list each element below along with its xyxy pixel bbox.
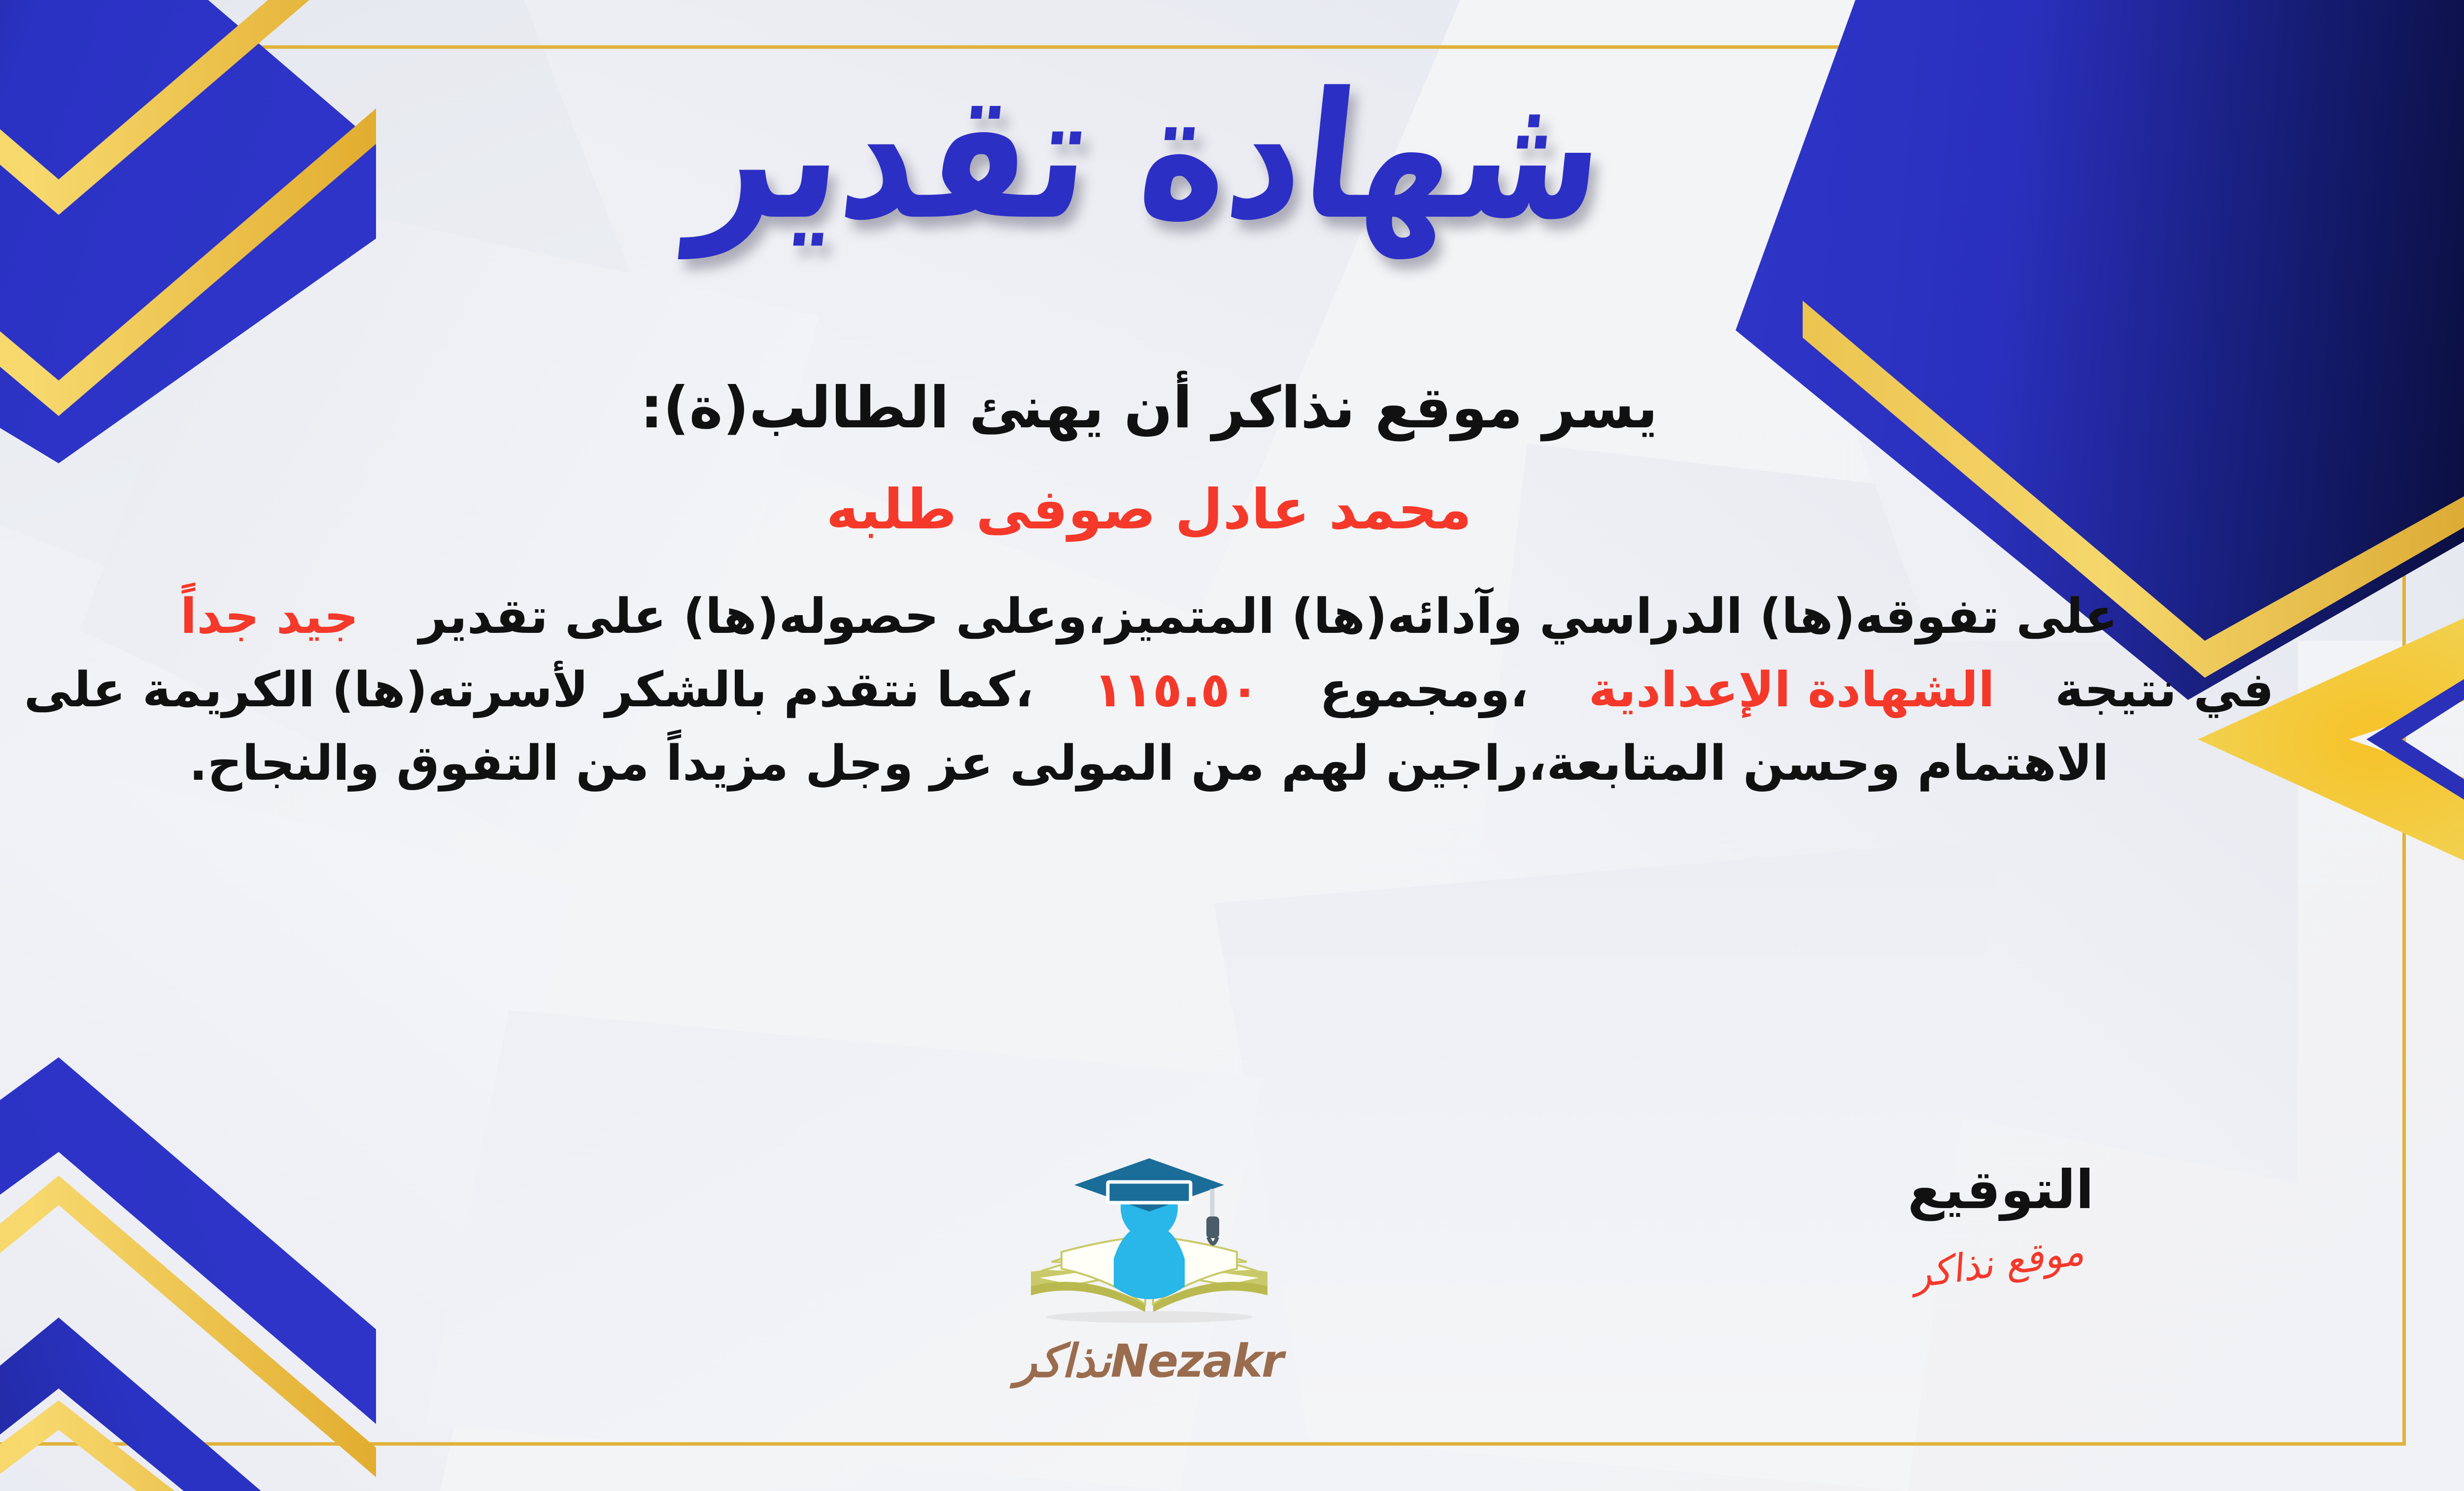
certificate-page: شهادة تقدير يسر موقع نذاكر أن يهنئ الطال…	[0, 0, 2464, 1491]
footer-row: التوقيع موقع نذاكر	[0, 1154, 2346, 1387]
citation-segment-1: على تفوقه(ها) الدراسي وآدائه(ها) المتميز…	[419, 589, 2118, 645]
title-container: شهادة تقدير	[0, 79, 2464, 234]
citation-paragraph: على تفوقه(ها) الدراسي وآدائه(ها) المتميز…	[0, 580, 2316, 800]
student-name: محمد عادل صوفى طلبه	[0, 478, 2316, 542]
logo-wordmark: Nezakrنذاكر	[854, 1335, 1445, 1387]
certificate-title: شهادة تقدير	[685, 65, 1612, 248]
logo-shadow	[1046, 1311, 1253, 1323]
signature-block: التوقيع موقع نذاكر	[1656, 1154, 2346, 1285]
citation-segment-2: في نتيجة	[2055, 662, 2274, 718]
congratulation-line: يسر موقع نذاكر أن يهنئ الطالب(ة):	[0, 375, 2316, 441]
exam-name: الشهادة الإعدادية	[1589, 662, 1995, 718]
grade-value: جيد جداً	[180, 589, 359, 645]
graduate-book-logo-icon	[1011, 1154, 1287, 1332]
certificate-body: يسر موقع نذاكر أن يهنئ الطالب(ة): محمد ع…	[0, 375, 2316, 800]
signature-script: موقع نذاكر	[1914, 1228, 2088, 1298]
citation-segment-3: ،ومجموع	[1320, 662, 1529, 718]
total-score-value: ١١٥.٥٠	[1094, 662, 1259, 718]
site-logo: Nezakrنذاكر	[854, 1154, 1445, 1387]
signature-label: التوقيع	[1656, 1159, 2346, 1221]
